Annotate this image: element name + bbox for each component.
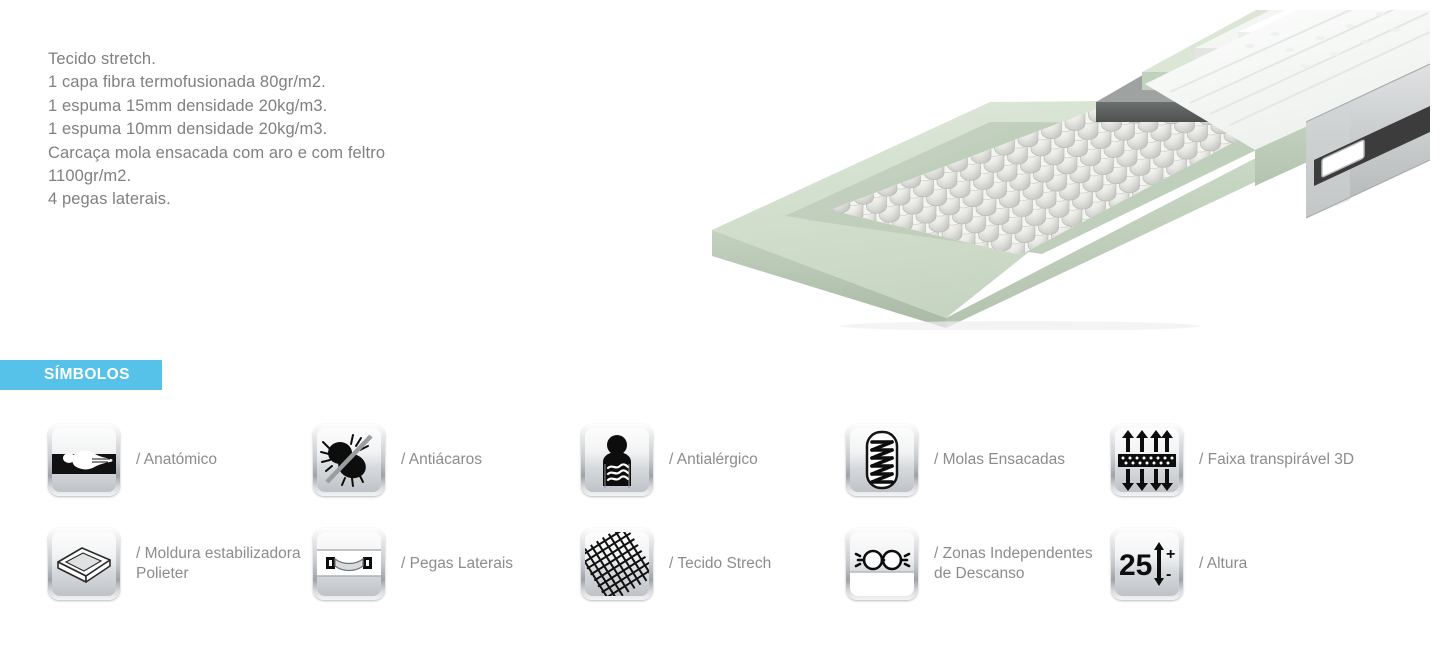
spec-line: 1 espuma 15mm densidade 20kg/m3. [48,95,568,118]
symbol-label: / Antialérgico [669,450,758,470]
symbol-label: / Zonas Independentes de Descanso [934,544,1109,584]
symbols-row: / Moldura estabilizadora Polieter [48,528,1408,600]
symbol-label: / Anatómico [136,450,217,470]
spec-line: 1 espuma 10mm densidade 20kg/m3. [48,118,568,141]
side-handle-icon [313,528,385,600]
symbol-label: / Altura [1199,554,1247,574]
symbol-label: / Molas Ensacadas [934,450,1065,470]
symbols-row: / Anatómico / Antiá [48,424,1408,496]
breathable-band-3d-icon [1111,424,1183,496]
symbol-item-faixa-transpiravel[interactable]: / Faixa transpirável 3D [1111,424,1391,496]
spec-line: 1 capa fibra termofusionada 80gr/m2. [48,71,568,94]
symbol-item-moldura-polieter[interactable]: / Moldura estabilizadora Polieter [48,528,313,600]
symbol-label: / Pegas Laterais [401,554,513,574]
svg-text:+: + [1166,546,1175,563]
pocket-spring-icon [846,424,918,496]
symbol-item-pegas-laterais[interactable]: / Pegas Laterais [313,528,581,600]
symbols-section-header: SÍMBOLOS [0,360,162,390]
symbol-label: / Faixa transpirável 3D [1199,450,1354,470]
height-25-icon: 25 + - [1111,528,1183,600]
mattress-cutaway-illustration [690,10,1430,330]
symbol-item-tecido-strech[interactable]: / Tecido Strech [581,528,846,600]
symbol-item-anatomic[interactable]: / Anatómico [48,424,313,496]
symbol-label: / Antiácaros [401,450,482,470]
anatomic-figure-icon [48,424,120,496]
product-specs-block: Tecido stretch. 1 capa fibra termofusion… [48,48,568,212]
symbol-item-zonas-independentes[interactable]: / Zonas Independentes de Descanso [846,528,1111,600]
stretch-mesh-icon [581,528,653,600]
dust-mite-crossed-icon [313,424,385,496]
spec-line: 1100gr/m2. [48,165,568,188]
symbol-label: / Moldura estabilizadora Polieter [136,544,313,584]
polyether-frame-icon [48,528,120,600]
symbol-item-antialergico[interactable]: / Antialérgico [581,424,846,496]
symbol-label: / Tecido Strech [669,554,771,574]
symbol-item-molas-ensacadas[interactable]: / Molas Ensacadas [846,424,1111,496]
symbols-header-title: SÍMBOLOS [44,366,130,384]
spec-line: Tecido stretch. [48,48,568,71]
spec-line: 4 pegas laterais. [48,188,568,211]
symbols-grid: / Anatómico / Antiá [48,424,1408,600]
spec-line: Carcaça mola ensacada com aro e com felt… [48,142,568,165]
independent-zones-icon [846,528,918,600]
person-waves-icon [581,424,653,496]
symbol-item-antiacaros[interactable]: / Antiácaros [313,424,581,496]
svg-text:-: - [1166,566,1171,583]
symbol-item-altura[interactable]: 25 + - / Altura [1111,528,1391,600]
height-value-text: 25 [1119,549,1152,582]
